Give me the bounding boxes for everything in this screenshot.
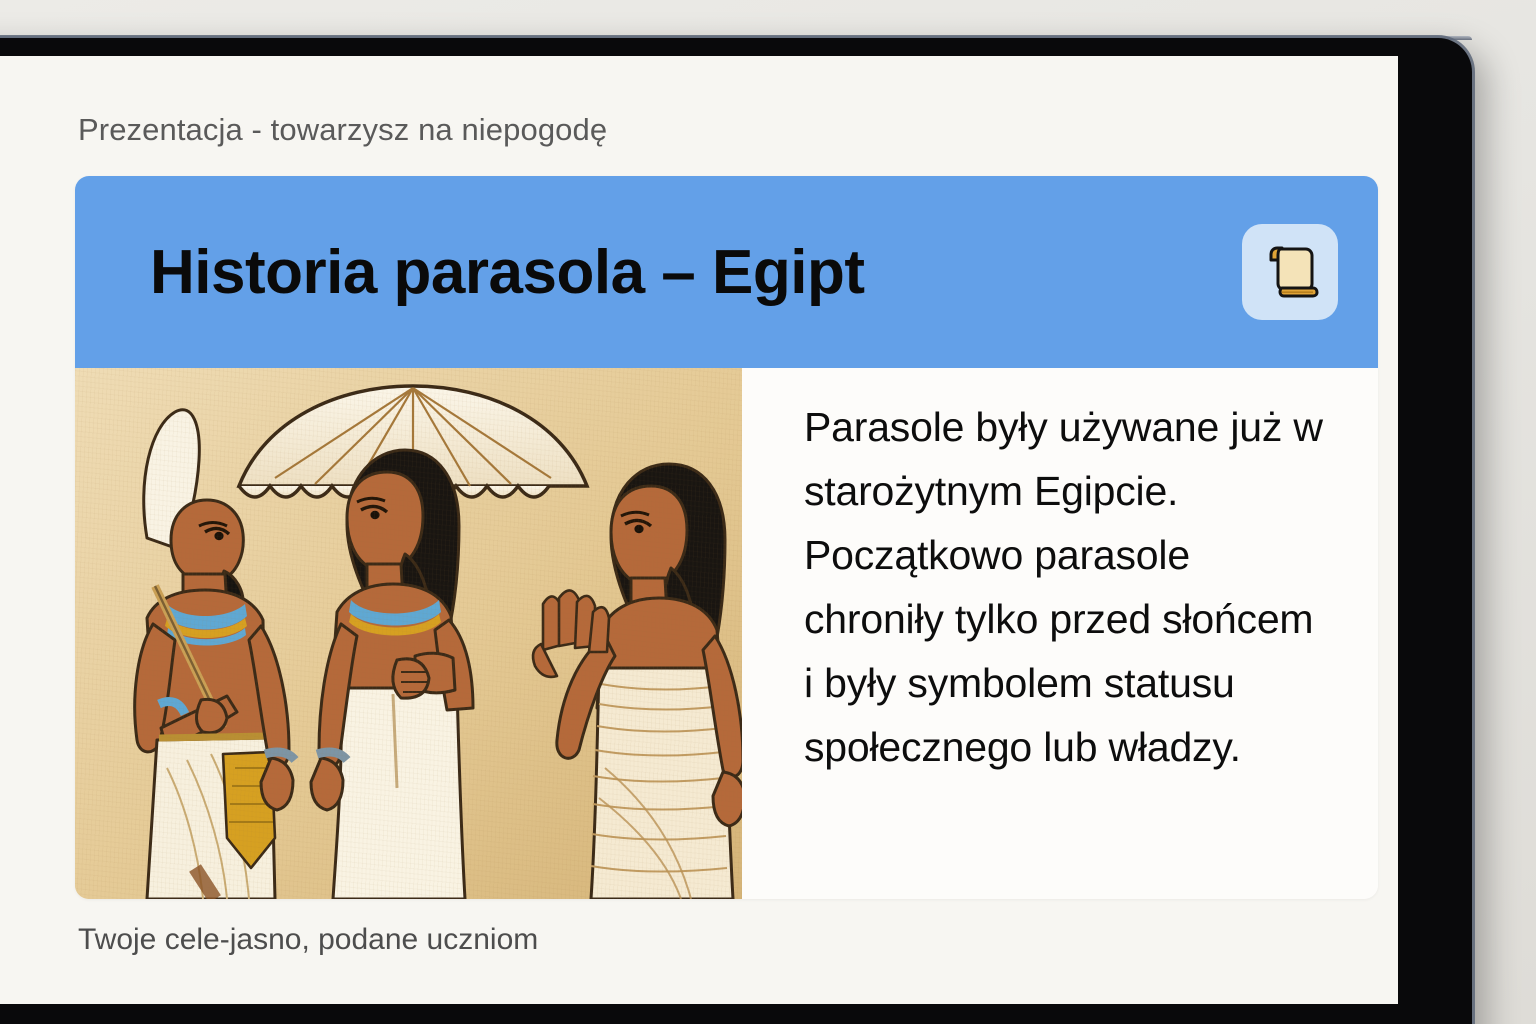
slide-text-panel: Parasole były używane już w starożytnym … <box>742 368 1378 899</box>
slide-page: Prezentacja - towarzysz na niepogodę His… <box>0 56 1398 1004</box>
egyptian-umbrella-artwork <box>75 368 742 899</box>
egypt-illustration <box>75 368 742 899</box>
slide-title: Historia parasola – Egipt <box>150 237 865 308</box>
slide-card[interactable]: Historia parasola – Egipt <box>75 176 1378 899</box>
slide-card-header: Historia parasola – Egipt <box>75 176 1378 368</box>
slide-footer-label: Twoje cele-jasno, podane uczniom <box>78 923 538 957</box>
scene-backdrop: Prezentacja - towarzysz na niepogodę His… <box>0 0 1536 1024</box>
presentation-eyebrow-label: Prezentacja - towarzysz na niepogodę <box>78 112 607 148</box>
slide-body-text: Parasole były używane już w starożytnym … <box>804 396 1328 780</box>
screen: Prezentacja - towarzysz na niepogodę His… <box>0 56 1398 1004</box>
slide-card-body: Parasole były używane już w starożytnym … <box>75 368 1378 899</box>
scroll-icon <box>1258 240 1322 304</box>
scroll-badge <box>1242 224 1338 320</box>
